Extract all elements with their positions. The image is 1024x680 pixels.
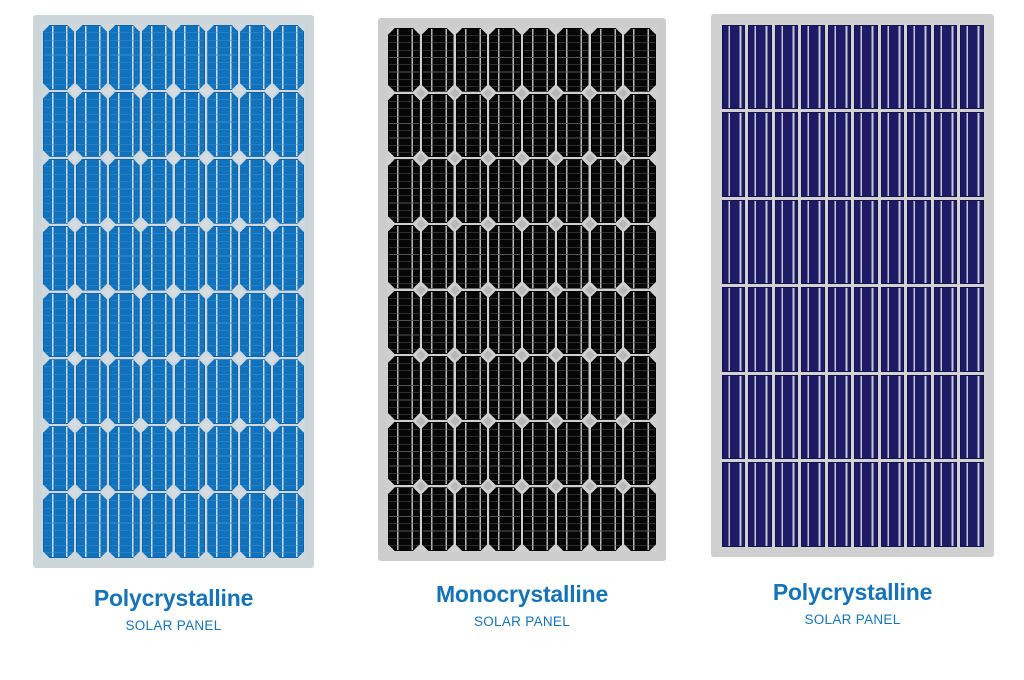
solar-cell [239,358,272,425]
solar-cell-body [591,28,623,92]
solar-cell-body [523,159,555,223]
solar-cell [239,225,272,292]
solar-cell [272,158,305,225]
solar-cell-body [43,293,74,358]
solar-cell-body [388,291,420,355]
solar-cell-body [175,426,206,491]
solar-cell [773,198,800,286]
solar-cell [42,91,75,158]
solar-cell-body [523,28,555,92]
solar-cell [421,158,455,224]
solar-cell [108,358,141,425]
solar-cell-body [854,375,878,460]
solar-cell [932,198,959,286]
solar-cell-body [624,356,656,420]
solar-cell-body [240,426,271,491]
solar-cell-body [388,225,420,289]
solar-cell-body [881,287,905,372]
solar-cell [959,198,986,286]
solar-cell [239,292,272,359]
solar-cell-body [960,112,984,197]
solar-cell-body [722,25,746,110]
solar-cell-body [523,225,555,289]
solar-cell-body [591,291,623,355]
solar-cell-body [142,25,173,90]
solar-cell [108,425,141,492]
panel-1-subtitle: SOLAR PANEL [33,618,314,633]
solar-cell [387,290,421,356]
solar-cell-body [489,487,521,551]
solar-cell [488,158,522,224]
solar-cell-body [934,200,958,285]
panel-3-laminate [720,23,985,548]
solar-cell-body [624,291,656,355]
solar-cell-body [240,25,271,90]
solar-cell-body [76,493,107,558]
solar-cell-body [388,356,420,420]
solar-cell [590,27,624,93]
solar-cell [387,421,421,487]
solar-cell-body [523,291,555,355]
panel-1-title: Polycrystalline [33,586,314,610]
solar-cell [272,24,305,91]
solar-cell [421,290,455,356]
solar-cell-body [456,356,488,420]
solar-cell-body [907,462,931,547]
solar-cell [272,425,305,492]
solar-cell [206,91,239,158]
solar-cell [932,286,959,374]
solar-cell [421,355,455,421]
solar-cell [747,461,774,549]
solar-cell-body [240,293,271,358]
solar-cell [174,225,207,292]
solar-cell-body [748,462,772,547]
solar-cell-body [422,356,454,420]
solar-cell-body [828,25,852,110]
solar-cell-body [748,200,772,285]
panel-1-cell-grid [42,24,305,559]
solar-cell-body [422,225,454,289]
solar-cell-body [43,159,74,224]
solar-cell [747,23,774,111]
solar-cell [906,111,933,199]
solar-cell [522,93,556,159]
solar-cell-body [722,200,746,285]
solar-cell-body [960,25,984,110]
solar-cell-body [142,92,173,157]
solar-cell-body [722,287,746,372]
solar-cell-body [557,94,589,158]
solar-cell [206,358,239,425]
solar-cell [906,23,933,111]
solar-cell-body [801,462,825,547]
solar-cell [75,425,108,492]
solar-cell-body [273,426,304,491]
solar-cell [879,286,906,374]
solar-cell [747,286,774,374]
solar-cell-body [881,200,905,285]
solar-cell-body [624,159,656,223]
solar-cell-body [523,94,555,158]
solar-cell-body [591,225,623,289]
panel-3-subtitle: SOLAR PANEL [711,612,994,627]
solar-cell [488,486,522,552]
solar-cell [75,292,108,359]
solar-cell [174,492,207,559]
solar-cell [522,486,556,552]
solar-cell [387,224,421,290]
solar-cell [826,198,853,286]
solar-cell [747,373,774,461]
solar-cell-body [142,159,173,224]
solar-cell-body [175,159,206,224]
solar-cell [773,286,800,374]
solar-cell-body [456,94,488,158]
solar-cell-body [76,159,107,224]
solar-cell [42,225,75,292]
solar-cell [42,425,75,492]
solar-cell [141,24,174,91]
solar-cell-body [960,200,984,285]
solar-cell-body [557,356,589,420]
solar-cell [826,23,853,111]
solar-cell [826,286,853,374]
solar-cell [387,158,421,224]
solar-cell [959,111,986,199]
solar-cell-body [828,462,852,547]
panel-2-frame [378,18,666,561]
solar-cell-body [240,159,271,224]
solar-cell [272,225,305,292]
solar-cell [623,355,657,421]
solar-cell [959,286,986,374]
solar-cell-body [907,25,931,110]
solar-cell [141,492,174,559]
solar-cell-body [557,28,589,92]
solar-cell-body [273,359,304,424]
solar-cell-body [388,487,420,551]
solar-cell [174,158,207,225]
solar-cell [959,461,986,549]
solar-cell-body [881,112,905,197]
panel-2-cell-grid [387,27,657,552]
solar-cell-body [748,287,772,372]
panel-3-frame [711,14,994,557]
solar-cell [932,23,959,111]
solar-cell-body [240,493,271,558]
solar-cell [387,93,421,159]
solar-cell [959,373,986,461]
solar-cell [590,421,624,487]
solar-cell [42,292,75,359]
solar-cell [455,93,489,159]
solar-cell-body [489,225,521,289]
solar-cell [455,290,489,356]
solar-cell [800,23,827,111]
solar-cell-body [828,287,852,372]
solar-cell [590,486,624,552]
solar-cell [853,23,880,111]
solar-cell [206,225,239,292]
solar-cell-body [273,493,304,558]
solar-cell-body [422,487,454,551]
solar-cell [421,486,455,552]
solar-cell-body [175,92,206,157]
solar-cell [206,24,239,91]
solar-cell-body [881,375,905,460]
solar-cell [522,158,556,224]
solar-cell [522,224,556,290]
solar-cell [556,93,590,159]
solar-cell [556,224,590,290]
solar-cell [623,421,657,487]
solar-cell-body [828,375,852,460]
solar-cell-body [142,293,173,358]
solar-cell [42,24,75,91]
solar-cell [853,286,880,374]
solar-cell [623,290,657,356]
solar-cell-body [854,287,878,372]
solar-cell-body [273,293,304,358]
solar-cell [556,355,590,421]
solar-cell-body [881,25,905,110]
solar-cell-body [854,112,878,197]
solar-cell-body [43,426,74,491]
solar-cell [206,492,239,559]
solar-cell-body [207,359,238,424]
solar-cell [174,24,207,91]
solar-cell-body [907,287,931,372]
solar-cell-body [175,493,206,558]
solar-cell-body [388,28,420,92]
solar-cell-body [43,359,74,424]
solar-cell [932,461,959,549]
solar-cell-body [624,487,656,551]
solar-cell [826,461,853,549]
solar-cell [42,492,75,559]
solar-cell-body [76,25,107,90]
solar-cell [800,373,827,461]
solar-cell-body [273,159,304,224]
solar-cell [800,286,827,374]
solar-cell-body [388,159,420,223]
solar-cell-body [591,356,623,420]
solar-cell-body [109,293,140,358]
solar-cell [720,23,747,111]
solar-cell-body [273,92,304,157]
solar-cell-body [273,25,304,90]
solar-cell [522,27,556,93]
solar-cell-body [109,359,140,424]
solar-cell-body [175,226,206,291]
solar-cell-body [207,426,238,491]
solar-cell-body [76,226,107,291]
solar-cell [800,461,827,549]
solar-cell-body [207,226,238,291]
solar-cell [206,425,239,492]
solar-cell-body [422,159,454,223]
solar-cell [590,158,624,224]
solar-cell-body [907,112,931,197]
solar-cell [747,198,774,286]
solar-cell [623,486,657,552]
solar-cell [387,27,421,93]
solar-cell-body [76,426,107,491]
solar-cell-body [775,200,799,285]
solar-cell [623,93,657,159]
solar-cell-body [934,112,958,197]
solar-cell-body [175,293,206,358]
solar-cell [522,355,556,421]
panel-1-frame [33,15,314,568]
solar-cell-body [523,422,555,486]
solar-cell-body [624,422,656,486]
solar-cell-body [422,94,454,158]
solar-cell-body [422,291,454,355]
solar-cell-body [934,375,958,460]
panel-1-caption: PolycrystallineSOLAR PANEL [33,586,314,633]
solar-cell-body [142,493,173,558]
solar-cell [455,355,489,421]
panel-3-caption: PolycrystallineSOLAR PANEL [711,580,994,627]
solar-cell [108,24,141,91]
solar-cell-body [109,159,140,224]
solar-cell [108,158,141,225]
solar-cell-body [175,25,206,90]
solar-cell [879,198,906,286]
solar-cell [522,290,556,356]
solar-cell-body [748,112,772,197]
solar-cell-body [591,159,623,223]
solar-cell-body [76,293,107,358]
solar-cell [272,91,305,158]
solar-cell [455,486,489,552]
solar-cell-body [624,28,656,92]
solar-cell [488,93,522,159]
solar-cell-body [557,159,589,223]
solar-cell-body [775,25,799,110]
solar-cell-body [801,200,825,285]
solar-cell [556,421,590,487]
solar-cell [174,292,207,359]
solar-cell [623,158,657,224]
solar-cell-body [43,493,74,558]
solar-cell-body [456,291,488,355]
solar-cell-body [854,200,878,285]
solar-cell [387,486,421,552]
solar-cell-body [489,422,521,486]
solar-cell [141,292,174,359]
solar-cell [556,486,590,552]
solar-cell-body [489,159,521,223]
solar-cell-body [591,422,623,486]
solar-cell [387,355,421,421]
solar-cell [272,358,305,425]
solar-cell-body [207,25,238,90]
solar-cell-body [881,462,905,547]
solar-cell-body [43,92,74,157]
panel-3-cell-grid [720,23,985,548]
solar-cell [141,225,174,292]
solar-cell-body [775,287,799,372]
solar-cell-body [775,112,799,197]
solar-cell-body [273,226,304,291]
solar-cell [906,286,933,374]
panel-1-laminate [42,24,305,559]
solar-cell-body [934,25,958,110]
solar-cell [421,224,455,290]
solar-cell [488,421,522,487]
solar-cell [108,91,141,158]
solar-cell-body [801,112,825,197]
solar-cell-body [76,359,107,424]
solar-cell-body [175,359,206,424]
solar-cell-body [43,226,74,291]
solar-cell-body [109,426,140,491]
solar-cell [720,111,747,199]
solar-cell [239,425,272,492]
solar-cell-body [76,92,107,157]
panel-2-title: Monocrystalline [378,582,666,606]
solar-cell-body [489,94,521,158]
solar-cell [932,373,959,461]
solar-cell [75,225,108,292]
solar-cell [906,198,933,286]
solar-cell-body [828,200,852,285]
solar-cell-body [748,25,772,110]
solar-cell-body [722,112,746,197]
solar-cell-body [801,375,825,460]
solar-cell [800,198,827,286]
solar-cell-body [456,422,488,486]
solar-cell [556,158,590,224]
solar-cell [488,290,522,356]
solar-cell-body [557,225,589,289]
solar-cell [623,224,657,290]
solar-cell-body [960,375,984,460]
solar-cell [272,492,305,559]
solar-cell [141,158,174,225]
solar-cell [773,111,800,199]
solar-cell-body [109,92,140,157]
solar-cell [906,461,933,549]
solar-cell [141,91,174,158]
solar-cell [773,461,800,549]
solar-cell [773,23,800,111]
solar-cell [853,461,880,549]
solar-cell [108,225,141,292]
solar-cell-body [523,487,555,551]
solar-cell-body [43,25,74,90]
solar-cell [879,23,906,111]
solar-cell-body [854,25,878,110]
solar-cell-body [456,28,488,92]
solar-cell [75,158,108,225]
solar-cell-body [934,287,958,372]
solar-cell-body [240,226,271,291]
solar-cell [174,358,207,425]
solar-cell [522,421,556,487]
solar-cell [556,290,590,356]
solar-cell [720,286,747,374]
solar-cell [720,461,747,549]
solar-cell [556,27,590,93]
solar-cell-body [907,200,931,285]
solar-cell [959,23,986,111]
solar-cell [590,93,624,159]
solar-cell-body [207,159,238,224]
